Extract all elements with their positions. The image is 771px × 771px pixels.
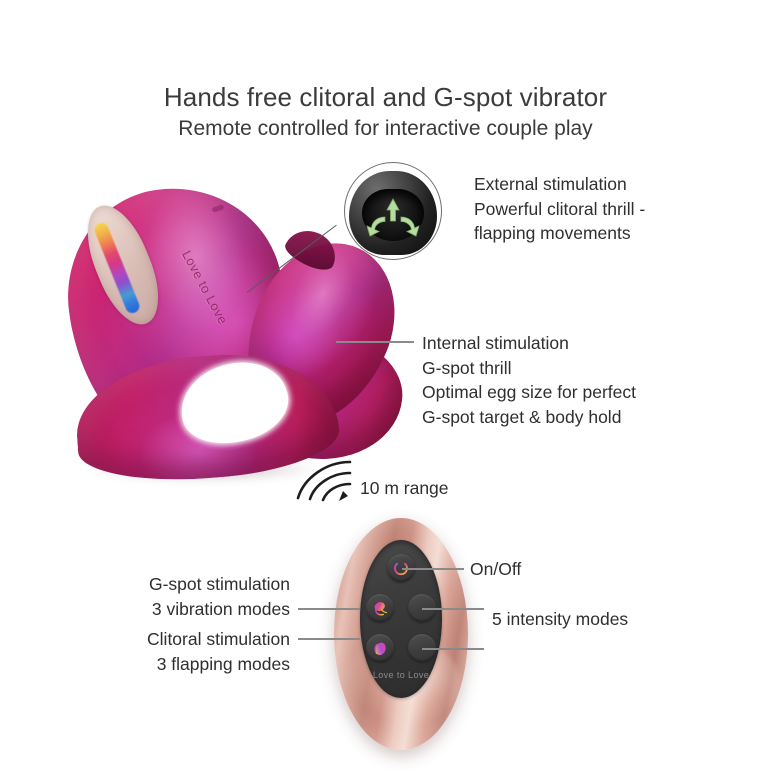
callout-gspot-line-2: 3 vibration modes — [60, 597, 290, 622]
leader-line-internal — [336, 341, 414, 343]
wireless-signal-icon — [292, 458, 356, 504]
callout-power-label: On/Off — [470, 557, 521, 582]
callout-gspot-line-1: G-spot stimulation — [60, 572, 290, 597]
callout-internal-stimulation: Internal stimulation G-spot thrill Optim… — [422, 331, 636, 429]
infographic-canvas: Hands free clitoral and G-spot vibrator … — [0, 0, 771, 771]
callout-clitoral-line-1: Clitoral stimulation — [60, 627, 290, 652]
callout-internal-line-1: Internal stimulation — [422, 331, 636, 356]
remote-control: Love to Love — [334, 518, 468, 750]
callout-intensity: 5 intensity modes — [492, 607, 628, 632]
callout-power: On/Off — [470, 557, 521, 582]
callout-internal-line-3: Optimal egg size for perfect — [422, 380, 636, 405]
callout-clitoral-line-2: 3 flapping modes — [60, 652, 290, 677]
callout-range: 10 m range — [360, 476, 449, 501]
callout-external-line-1: External stimulation — [474, 172, 645, 197]
callout-internal-line-4: G-spot target & body hold — [422, 405, 636, 430]
leader-line-plus — [422, 608, 484, 610]
callout-internal-line-2: G-spot thrill — [422, 356, 636, 381]
leader-line-clitoral — [298, 638, 360, 640]
callout-clitoral-modes: Clitoral stimulation 3 flapping modes — [60, 627, 290, 676]
gspot-button[interactable] — [366, 594, 394, 622]
magnified-detail-inset — [344, 162, 442, 260]
leader-line-gspot — [298, 608, 360, 610]
callout-external-stimulation: External stimulation Powerful clitoral t… — [474, 172, 645, 246]
page-title: Hands free clitoral and G-spot vibrator — [0, 80, 771, 114]
clitoral-mode-icon — [371, 639, 390, 658]
callout-intensity-label: 5 intensity modes — [492, 607, 628, 632]
remote-brand-label: Love to Love — [334, 670, 468, 680]
heading-block: Hands free clitoral and G-spot vibrator … — [0, 80, 771, 144]
leader-line-minus — [422, 648, 484, 650]
gspot-mode-icon — [371, 599, 390, 618]
page-subtitle: Remote controlled for interactive couple… — [0, 114, 771, 144]
callout-external-line-2: Powerful clitoral thrill - — [474, 197, 645, 222]
flapping-arrows-icon — [345, 163, 441, 259]
leader-line-power — [402, 568, 464, 570]
clitoral-button[interactable] — [366, 634, 394, 662]
callout-gspot-modes: G-spot stimulation 3 vibration modes — [60, 572, 290, 621]
callout-external-line-3: flapping movements — [474, 221, 645, 246]
range-label: 10 m range — [360, 476, 449, 501]
